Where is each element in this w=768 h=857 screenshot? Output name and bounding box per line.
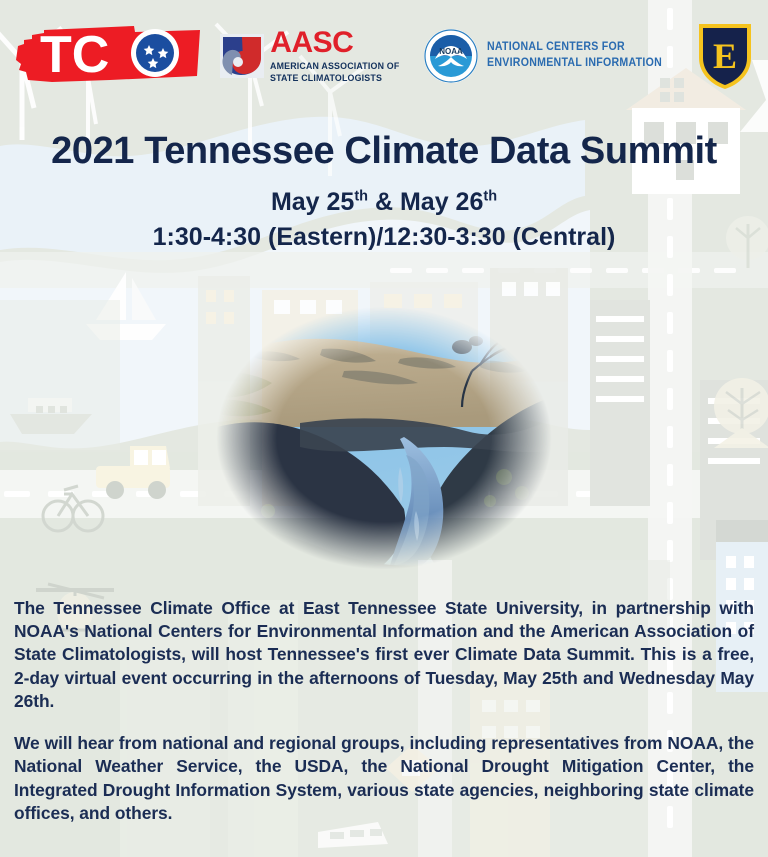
event-times: 1:30-4:30 (Eastern)/12:30-3:30 (Central) [0, 224, 768, 252]
ncei-line1: NATIONAL CENTERS FOR [487, 40, 662, 56]
ncei-line2: ENVIRONMENTAL INFORMATION [487, 56, 662, 72]
body-text: The Tennessee Climate Office at East Ten… [14, 597, 754, 825]
dates-sup-1: th [354, 189, 368, 205]
poster: TC AASC [0, 0, 768, 857]
mountain-valley-photo [204, 297, 564, 579]
aasc-subtitle-line2: STATE CLIMATOLOGISTS [270, 73, 382, 84]
logo-bar: TC AASC [0, 0, 768, 112]
aasc-subtitle-line1: AMERICAN ASSOCIATION OF [270, 61, 399, 72]
dates-sup-2: th [483, 189, 497, 205]
tco-logo: TC [14, 20, 204, 92]
dates-mid: & May 26 [368, 188, 483, 216]
etsu-shield-logo: E [696, 20, 754, 92]
dates-prefix: May 25 [271, 188, 354, 216]
paragraph-2: We will hear from national and regional … [14, 732, 754, 825]
noaa-ncei-logo: NOAA NATIONAL CENTERS FOR ENVIRONMENTAL … [423, 28, 677, 84]
etsu-letter: E [713, 36, 737, 76]
svg-text:NOAA: NOAA [440, 47, 464, 56]
heading-block: 2021 Tennessee Climate Data Summit May 2… [0, 132, 768, 252]
aasc-acronym: AASC [270, 28, 409, 58]
aasc-spiral-icon [220, 34, 264, 78]
aasc-logo: AASC AMERICAN ASSOCIATION OF STATE CLIMA… [220, 28, 409, 83]
svg-text:TC: TC [40, 26, 109, 84]
noaa-seal-icon: NOAA [423, 28, 479, 84]
paragraph-1: The Tennessee Climate Office at East Ten… [14, 597, 754, 713]
page-title: 2021 Tennessee Climate Data Summit [0, 132, 768, 172]
event-dates: May 25th & May 26th [0, 189, 768, 217]
